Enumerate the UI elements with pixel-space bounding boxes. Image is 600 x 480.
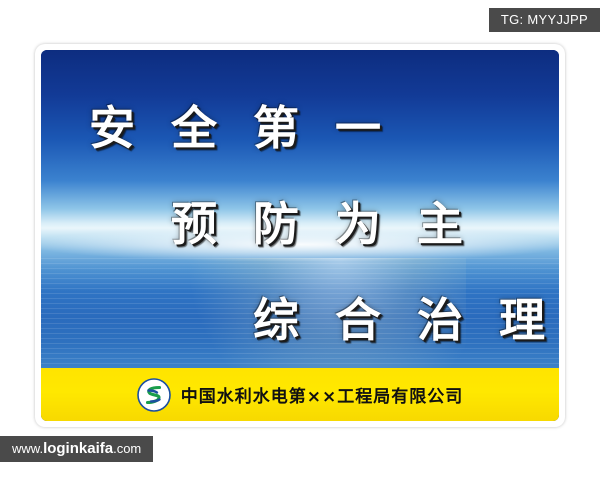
- company-logo-icon: [137, 378, 171, 412]
- slogan-line-3: 综 合 治 理: [253, 284, 555, 350]
- watermark-prefix: www.: [12, 441, 43, 456]
- tg-tag: TG: MYYJJPP: [489, 8, 600, 32]
- watermark-suffix: .com: [113, 441, 141, 456]
- slogan-line-2: 预 防 为 主: [171, 188, 473, 254]
- slogan-line-1: 安 全 第 一: [89, 92, 391, 158]
- poster-inner: 安 全 第 一 预 防 为 主 综 合 治 理 中国水利水电第××工程局有限公司: [41, 50, 559, 421]
- slogan-group: 安 全 第 一 预 防 为 主 综 合 治 理: [41, 50, 559, 368]
- watermark-strong: loginkaifa: [43, 440, 113, 457]
- safety-poster: 安 全 第 一 预 防 为 主 综 合 治 理 中国水利水电第××工程局有限公司: [35, 44, 565, 427]
- footer-band: 中国水利水电第××工程局有限公司: [41, 368, 559, 421]
- company-name: 中国水利水电第××工程局有限公司: [181, 382, 464, 407]
- site-watermark: www.loginkaifa.com: [0, 436, 153, 462]
